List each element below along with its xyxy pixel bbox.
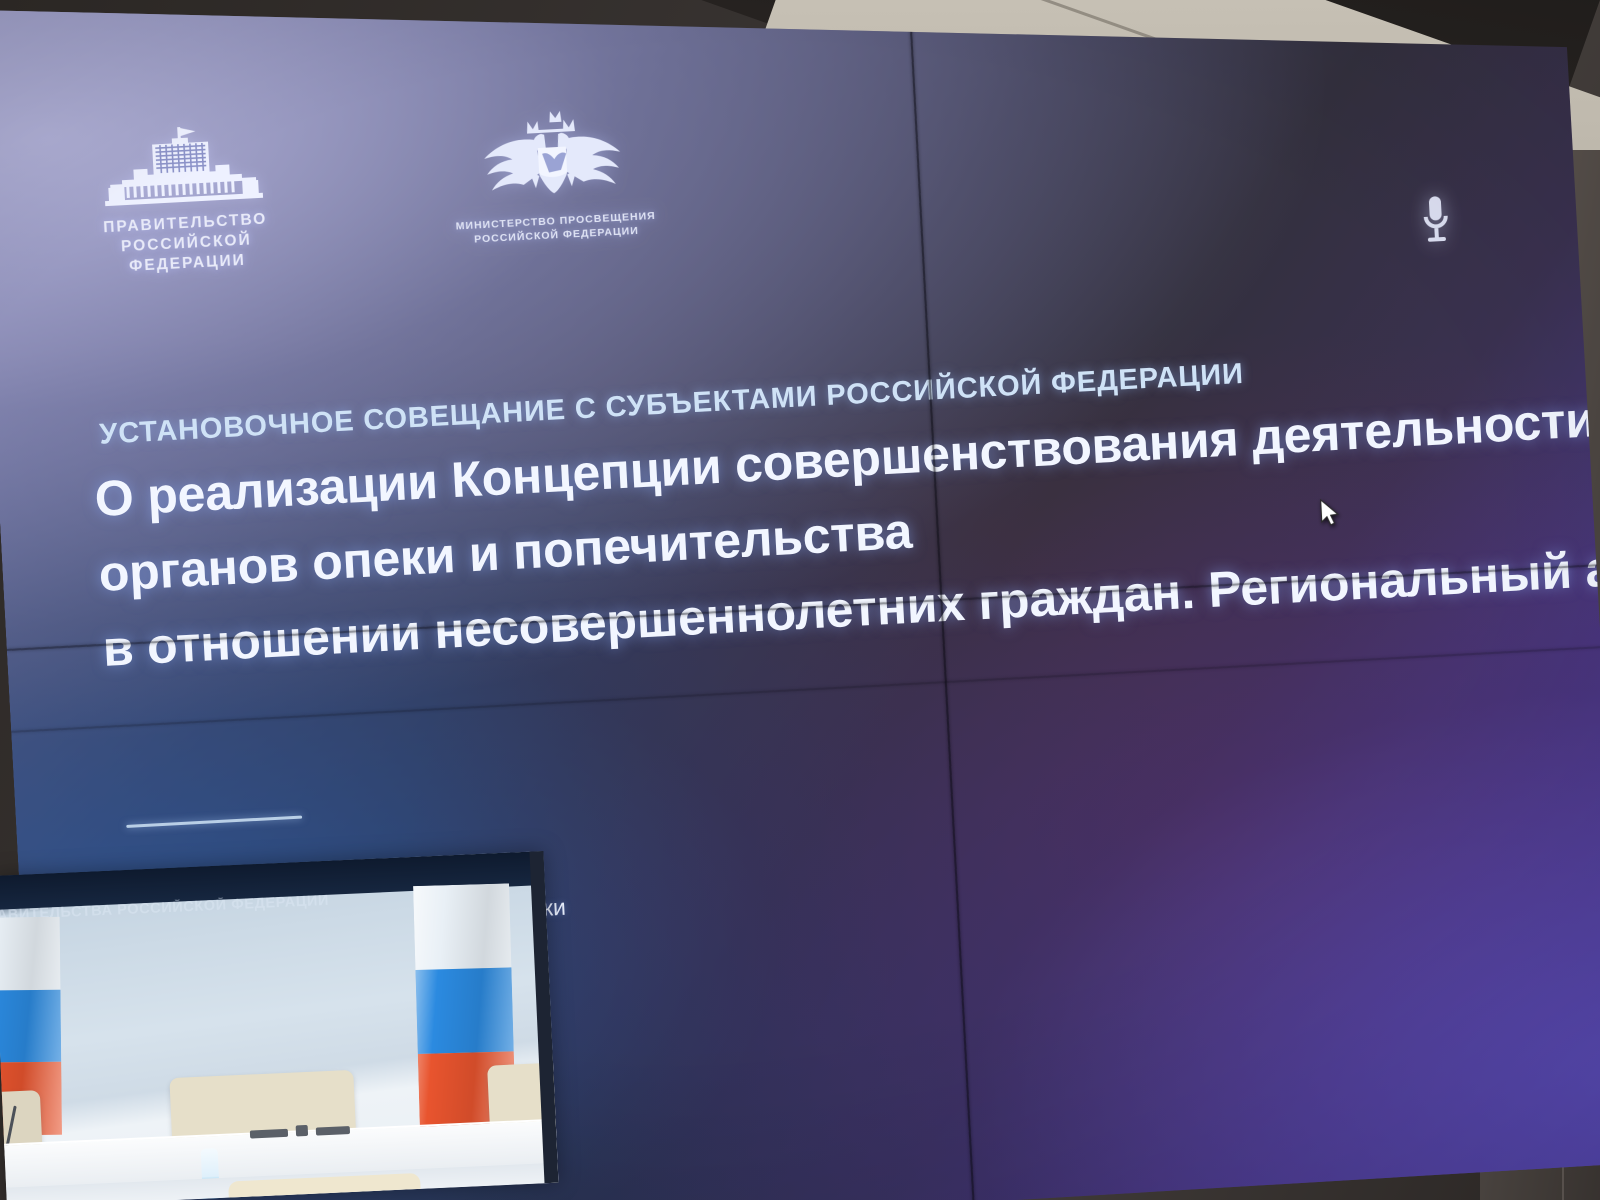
feed-desk-device-1 <box>250 1129 288 1139</box>
video-conference-feed[interactable]: РАВИТЕЛЬСТВА РОССИЙСКОЙ ФЕДЕРАЦИИ <box>0 851 558 1200</box>
feed-desk-device-2 <box>296 1125 308 1137</box>
screenshot-stage: ПРАВИТЕЛЬСТВО РОССИЙСКОЙ ФЕДЕРАЦИИ <box>0 0 1600 1200</box>
feed-desk-device-3 <box>316 1126 350 1136</box>
